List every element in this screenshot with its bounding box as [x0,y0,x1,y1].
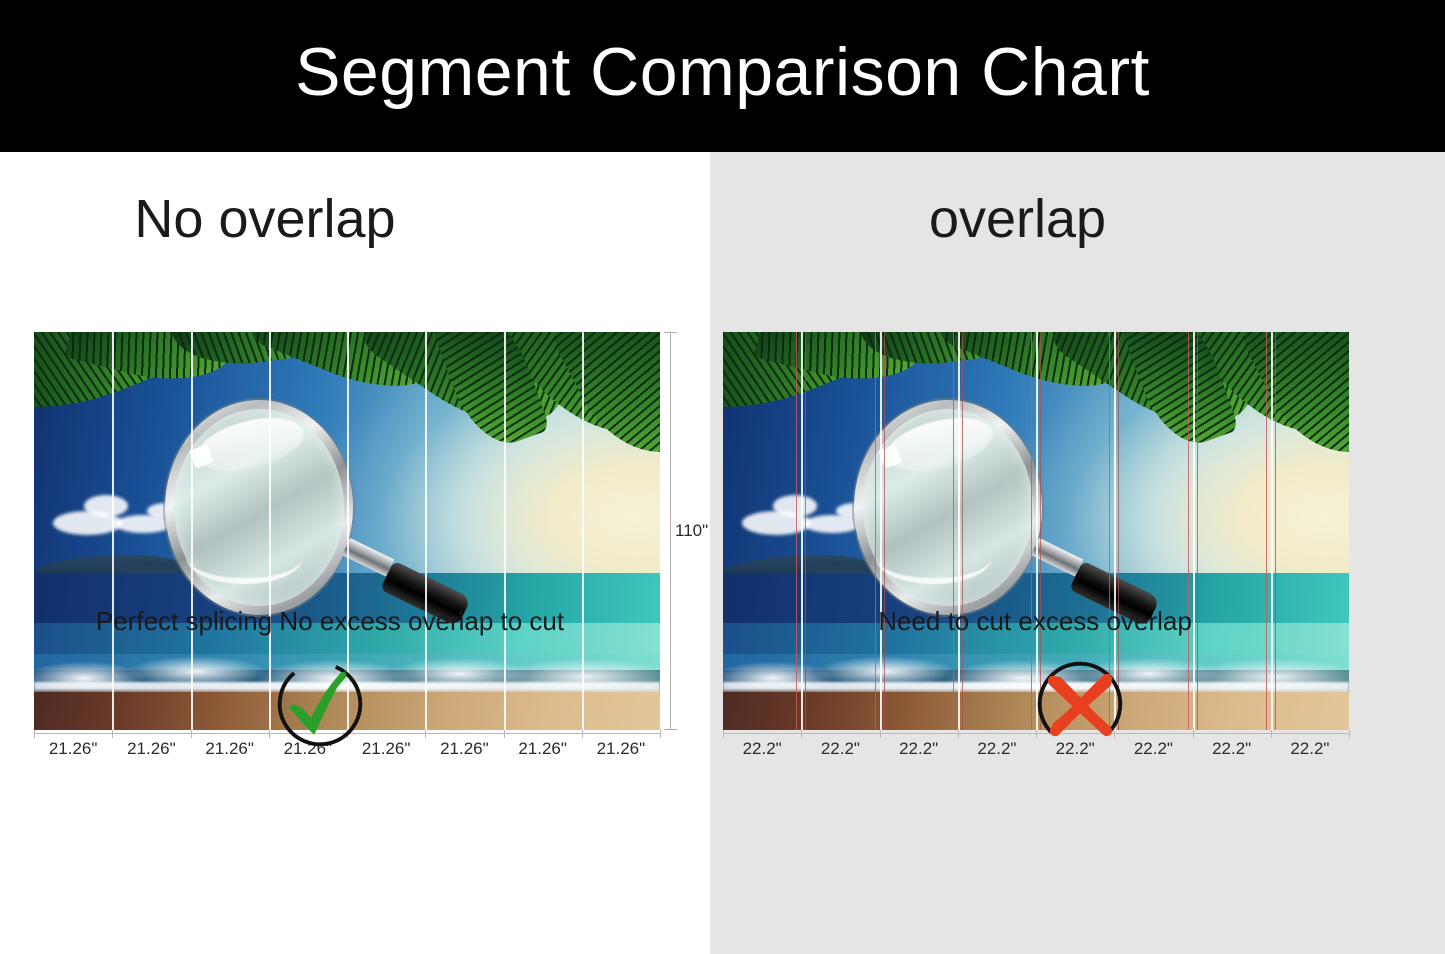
caption-overlap: Need to cut excess overlap [710,606,1445,637]
segment-tick [880,730,881,738]
segment-width-label: 22.2" [1271,736,1349,762]
segment-divider [112,332,114,730]
segment-tick [958,730,959,738]
overlap-cut-mark [1266,332,1267,730]
caption-no-overlap: Perfect splicing No excess overlap to cu… [0,606,710,637]
segment-divider [880,332,882,730]
segment-width-label: 22.2" [1193,736,1271,762]
segment-tick [1271,730,1272,738]
segment-tick [269,730,270,738]
segment-width-label: 22.2" [958,736,1036,762]
segment-tick [723,730,724,738]
panel-no-overlap: No overlap [0,152,710,954]
status-icon-check [272,656,368,752]
segment-tick [191,730,192,738]
overlap-cut-mark [962,332,963,730]
segment-divider [1193,332,1195,730]
segment-width-label: 21.26" [191,736,269,762]
overlap-cut-mark [1275,332,1276,730]
page-title: Segment Comparison Chart [0,0,1445,152]
segment-comparison-chart-page: Segment Comparison Chart No overlap [0,0,1445,954]
segment-tick [425,730,426,738]
overlap-cut-mark [1197,332,1198,730]
segment-tick [112,730,113,738]
segment-divider [958,332,960,730]
segment-tick [34,730,35,738]
overlap-cut-mark [875,332,876,730]
segment-width-label: 21.26" [425,736,503,762]
segment-divider [269,332,271,730]
segment-divider [801,332,803,730]
segment-width-label: 21.26" [582,736,660,762]
dimension-cap-top [664,332,677,333]
overlap-cut-mark [1188,332,1189,730]
segment-tick [582,730,583,738]
segment-divider [1271,332,1273,730]
segment-tick [801,730,802,738]
segment-width-label: 22.2" [880,736,958,762]
overlap-cut-mark [953,332,954,730]
status-icon-cross [1032,656,1128,752]
segment-divider [191,332,193,730]
segment-divider [504,332,506,730]
panel-overlap: overlap [710,152,1445,954]
segment-width-label: 21.26" [34,736,112,762]
segment-tick [660,730,661,738]
panel-heading-no-overlap: No overlap [0,190,710,249]
overlap-cut-mark [805,332,806,730]
segment-tick [504,730,505,738]
height-dimension-left: 110" [662,332,708,730]
segment-divider [582,332,584,730]
panel-heading-overlap: overlap [710,190,1445,249]
segment-width-label: 22.2" [723,736,801,762]
title-bar: Segment Comparison Chart [0,0,1445,152]
segment-width-label: 21.26" [112,736,190,762]
comparison-panels: No overlap [0,152,1445,954]
dimension-line [670,332,671,730]
segment-width-label: 22.2" [801,736,879,762]
segment-tick [1349,730,1350,738]
segment-width-label: 21.26" [504,736,582,762]
height-label: 110" [675,521,708,541]
overlap-cut-mark [796,332,797,730]
segment-tick [1193,730,1194,738]
segment-divider [425,332,427,730]
overlap-cut-mark [884,332,885,730]
dimension-cap-bottom [664,729,677,730]
